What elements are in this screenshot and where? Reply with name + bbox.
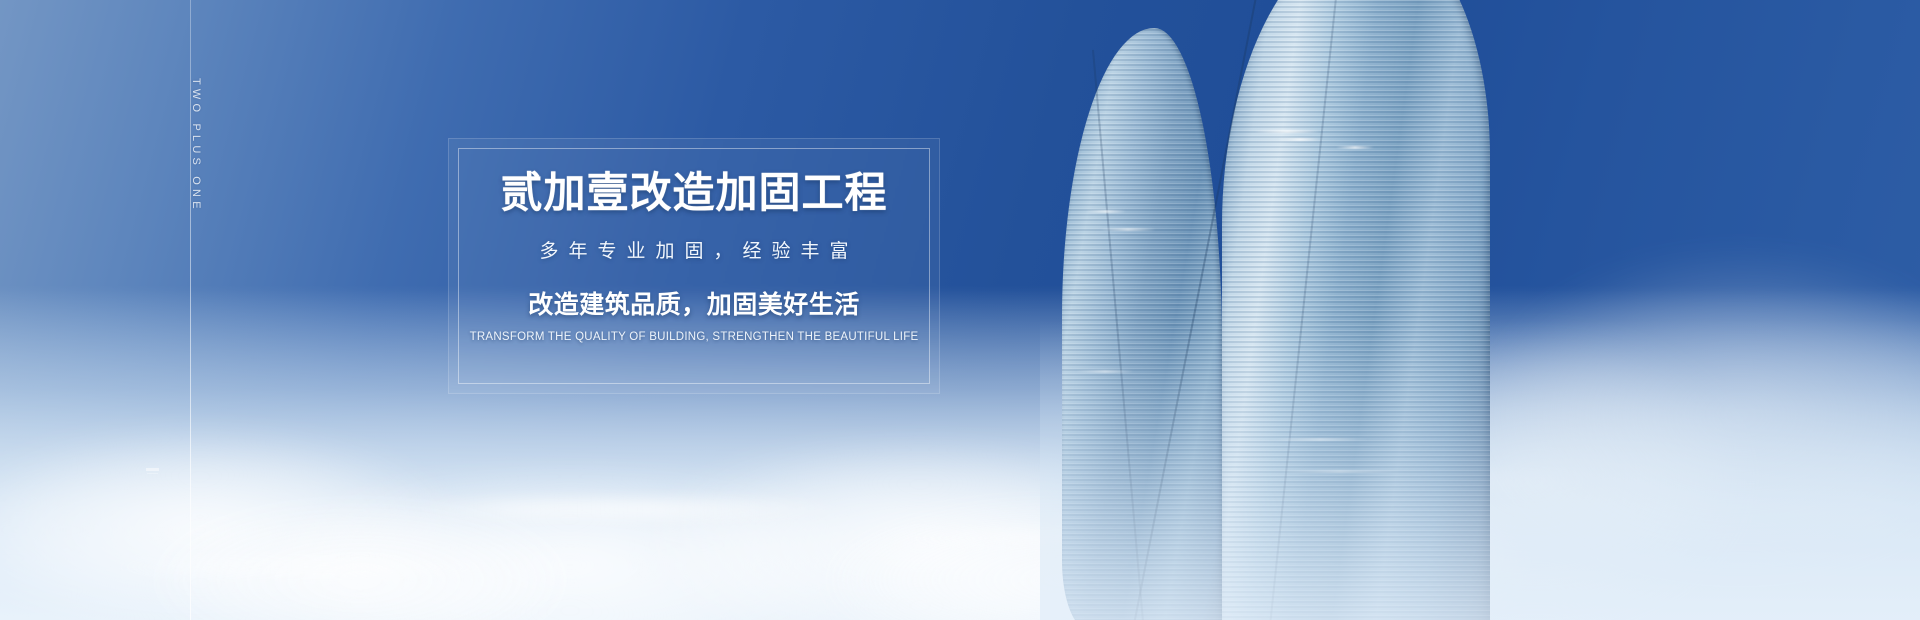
slogan: 改造建筑品质，加固美好生活 xyxy=(449,285,939,321)
window-glint xyxy=(1336,146,1374,149)
hero-banner: TWO PLUS ONE 贰加壹改造加固工程 多年专业加固，经验丰富 改造建筑品… xyxy=(0,0,1920,620)
slogan-english: TRANSFORM THE QUALITY OF BUILDING, STREN… xyxy=(449,331,939,343)
window-glint xyxy=(1086,210,1126,213)
subheadline: 多年专业加固，经验丰富 xyxy=(449,236,939,263)
tower-left-icon xyxy=(1062,28,1222,620)
skyscrapers-illustration xyxy=(1040,0,1920,620)
window-glint xyxy=(1254,130,1320,133)
tower-right-icon xyxy=(1222,0,1490,620)
window-glint xyxy=(1272,438,1368,441)
window-glint xyxy=(1076,370,1134,373)
decorative-mark-icon xyxy=(146,468,159,471)
window-glint xyxy=(1100,228,1156,231)
window-glint xyxy=(1280,470,1400,473)
hero-text-panel: 贰加壹改造加固工程 多年专业加固，经验丰富 改造建筑品质，加固美好生活 TRAN… xyxy=(448,138,940,394)
brand-vertical-text: TWO PLUS ONE xyxy=(186,78,206,213)
headline: 贰加壹改造加固工程 xyxy=(449,169,939,216)
window-glint xyxy=(1278,138,1322,141)
panel-content: 贰加壹改造加固工程 多年专业加固，经验丰富 改造建筑品质，加固美好生活 TRAN… xyxy=(449,169,939,343)
